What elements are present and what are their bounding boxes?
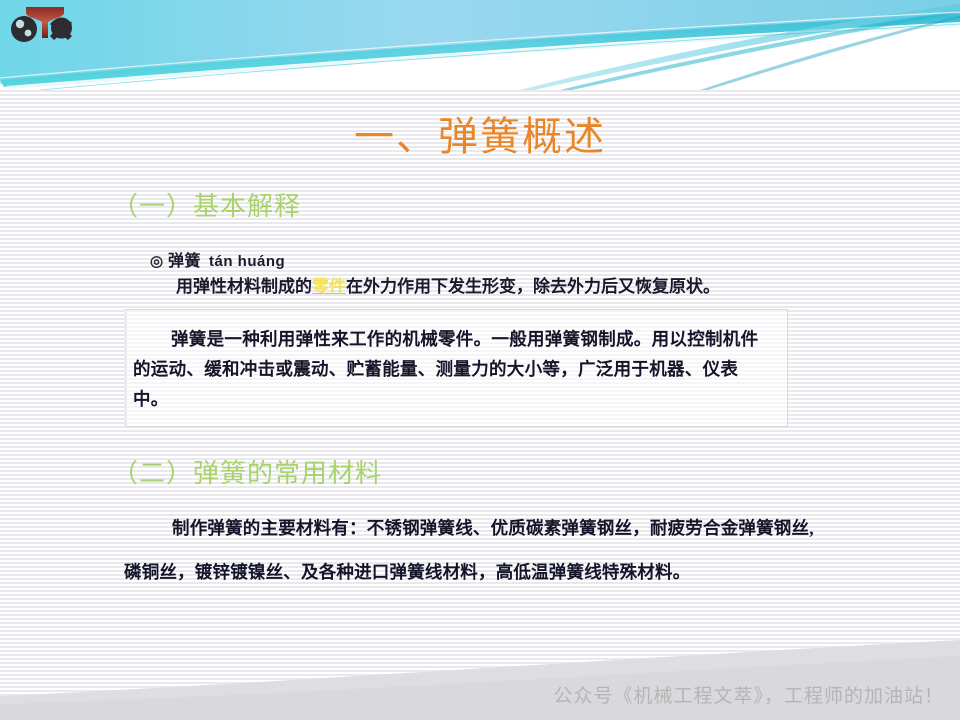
slide-canvas: 一、弹簧概述 （一）基本解释 ◎弹簧tán huáng 用弹性材料制成的零件在外…: [0, 0, 960, 720]
bullet-term-line: ◎弹簧tán huáng: [150, 247, 960, 271]
definition-text-before: 用弹性材料制成的: [176, 277, 312, 296]
definition-bullet-block: ◎弹簧tán huáng 用弹性材料制成的零件在外力作用下发生形变，除去外力后又…: [150, 247, 960, 297]
bullet-pinyin: tán huáng: [201, 253, 285, 270]
materials-paragraph-block: 制作弹簧的主要材料有：不锈钢弹簧线、优质碳素弹簧钢丝，耐疲劳合金弹簧钢丝,磷铜丝…: [124, 506, 814, 594]
callout-box: 弹簧是一种利用弹性来工作的机械零件。一般用弹簧钢制成。用以控制机件的运动、缓和冲…: [124, 309, 788, 427]
slide-content: 一、弹簧概述 （一）基本解释 ◎弹簧tán huáng 用弹性材料制成的零件在外…: [0, 90, 960, 670]
bullet-term: 弹簧: [168, 253, 201, 270]
definition-text-after: 在外力作用下发生形变，除去外力后又恢复原状。: [346, 277, 720, 296]
materials-text: 制作弹簧的主要材料有：不锈钢弹簧线、优质碳素弹簧钢丝，耐疲劳合金弹簧钢丝,磷铜丝…: [124, 506, 814, 594]
callout-text: 弹簧是一种利用弹性来工作的机械零件。一般用弹簧钢制成。用以控制机件的运动、缓和冲…: [133, 324, 769, 414]
footer-note: 公众号《机械工程文萃》，工程师的加油站！: [553, 681, 944, 708]
header-decorative-band: [0, 0, 960, 90]
page-title: 一、弹簧概述: [0, 104, 960, 162]
header-swoosh-shape: [0, 0, 960, 90]
logo-shape: [8, 4, 84, 48]
bullseye-bullet-icon: ◎: [150, 252, 168, 271]
bullet-definition-line: 用弹性材料制成的零件在外力作用下发生形变，除去外力后又恢复原状。: [176, 272, 960, 297]
section-heading-common-materials: （二）弹簧的常用材料: [112, 453, 960, 490]
definition-hyperlink[interactable]: 零件: [312, 277, 346, 296]
section-heading-basic-explanation: （一）基本解释: [112, 186, 960, 223]
gear-wrench-logo-icon: [8, 4, 84, 48]
